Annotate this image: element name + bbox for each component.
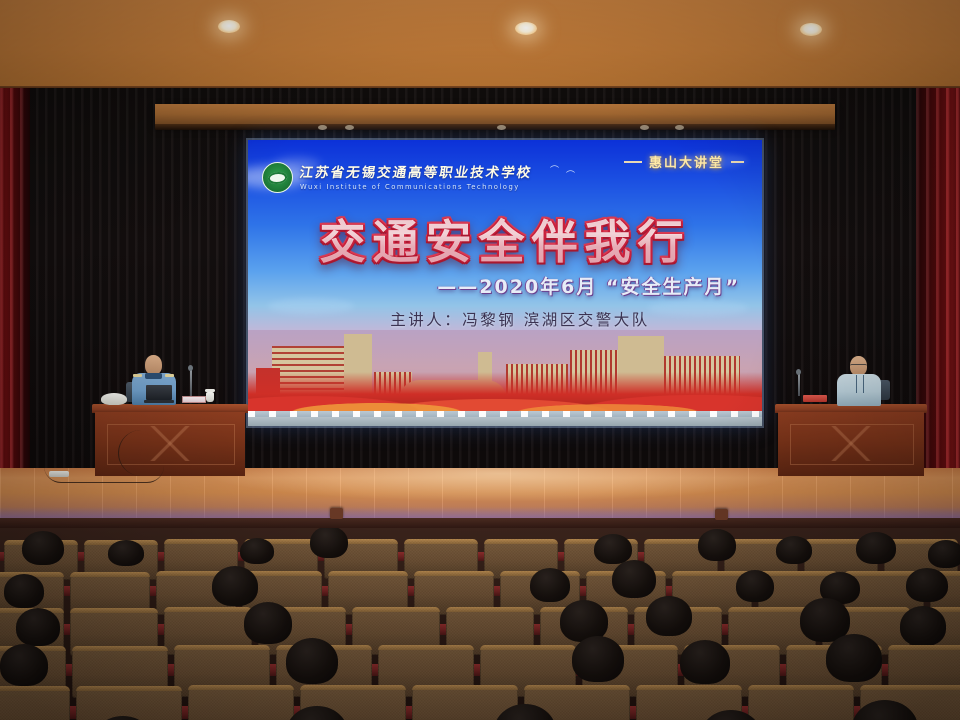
school-emblem-icon [262, 162, 293, 193]
lanyard-icon [856, 375, 864, 393]
microphone-left [190, 368, 192, 396]
laptop-left[interactable] [146, 385, 172, 400]
seat [748, 685, 854, 720]
ceiling-downlight-2 [515, 22, 537, 35]
lecture-series-brand: 惠山大讲堂 [624, 152, 744, 171]
valance-fixture-4 [640, 125, 649, 130]
presentation-subtitle: ——2020年6月 “安全生产月” [248, 272, 762, 299]
attendee-head [612, 560, 656, 598]
attendee-head [698, 529, 736, 561]
brand-dash-left [624, 161, 642, 163]
attendee-head [16, 608, 60, 646]
stage-curtain-left [0, 88, 30, 478]
gold-ribbon-band [248, 390, 762, 412]
attendee-head [826, 634, 882, 682]
attendee-head [900, 606, 946, 646]
attendee-head [4, 574, 44, 608]
uniform-epaulette-left [133, 374, 142, 377]
ceiling-downlight-1 [218, 20, 240, 33]
brand-dash-right [731, 161, 744, 163]
led-presentation-screen[interactable]: ︵ ︵ 江苏省无锡交通高等职业技术学校 Wuxi Institute of Co… [248, 140, 762, 426]
ceiling-downlight-3 [800, 23, 822, 36]
floor-connector-box [49, 471, 69, 477]
cup-lid-left [205, 389, 215, 392]
attendee-head [0, 644, 48, 686]
stage-monitor-speaker-right [715, 509, 728, 520]
host-moderator [834, 356, 888, 406]
attendee-head [212, 566, 258, 606]
attendee-head [856, 532, 896, 564]
attendee-head [776, 536, 812, 564]
seat [188, 685, 294, 720]
institution-name-en: Wuxi Institute of Communications Technol… [300, 183, 533, 191]
stage-valance-lip [155, 124, 835, 130]
mic-head-left [188, 365, 193, 371]
attendee-head [286, 638, 338, 684]
auditorium-scene: ︵ ︵ 江苏省无锡交通高等职业技术学校 Wuxi Institute of Co… [0, 0, 960, 720]
uniform-epaulette-right [165, 374, 174, 377]
institution-name-cn: 江苏省无锡交通高等职业技术学校 [298, 161, 534, 181]
lecture-brand-label: 惠山大讲堂 [649, 152, 724, 171]
institution-name-block: 江苏省无锡交通高等职业技术学校 Wuxi Institute of Commun… [300, 161, 533, 191]
presentation-title: 交通安全伴我行 [248, 206, 762, 272]
valance-fixture-2 [345, 125, 354, 130]
desk-dome-lamp-left [101, 393, 127, 405]
attendee-head [646, 596, 692, 636]
attendee-head [240, 538, 274, 564]
floor-cable-left-2 [118, 430, 179, 476]
nameplate-right [803, 395, 827, 402]
audience-seating [0, 528, 960, 720]
seat [76, 686, 182, 720]
mic-head-right [796, 369, 801, 375]
uniform-collar-left [145, 373, 162, 379]
attendee-head [736, 570, 774, 602]
stage-valance-beam [155, 104, 835, 126]
plaza-light-strip [248, 411, 762, 417]
attendee-head [906, 568, 948, 602]
microphone-right [798, 372, 800, 396]
presenter-line: 主讲人：冯黎钢 滨湖区交警大队 [248, 308, 762, 330]
valance-fixture-1 [318, 125, 327, 130]
attendee-head [244, 602, 292, 644]
eyeglasses-icon [850, 364, 867, 369]
attendee-head [594, 534, 632, 564]
valance-fixture-3 [497, 125, 506, 130]
attendee-head [108, 540, 144, 566]
speaker-head-left [145, 355, 162, 375]
attendee-head [928, 540, 960, 568]
screen-header: 江苏省无锡交通高等职业技术学校 Wuxi Institute of Commun… [248, 140, 762, 186]
nameplate-left [182, 396, 206, 403]
seat [0, 686, 70, 720]
attendee-head [310, 528, 348, 558]
stage-monitor-speaker-left [330, 508, 343, 519]
host-desk-right [775, 404, 927, 476]
ceiling [0, 0, 960, 90]
water-cup-left [206, 392, 214, 402]
valance-fixture-5 [675, 125, 684, 130]
attendee-head [530, 568, 570, 602]
attendee-head [680, 640, 730, 684]
attendee-head [572, 636, 624, 682]
campus-illustration [248, 330, 762, 426]
attendee-head [22, 531, 64, 565]
laptop-base-left [144, 400, 174, 403]
